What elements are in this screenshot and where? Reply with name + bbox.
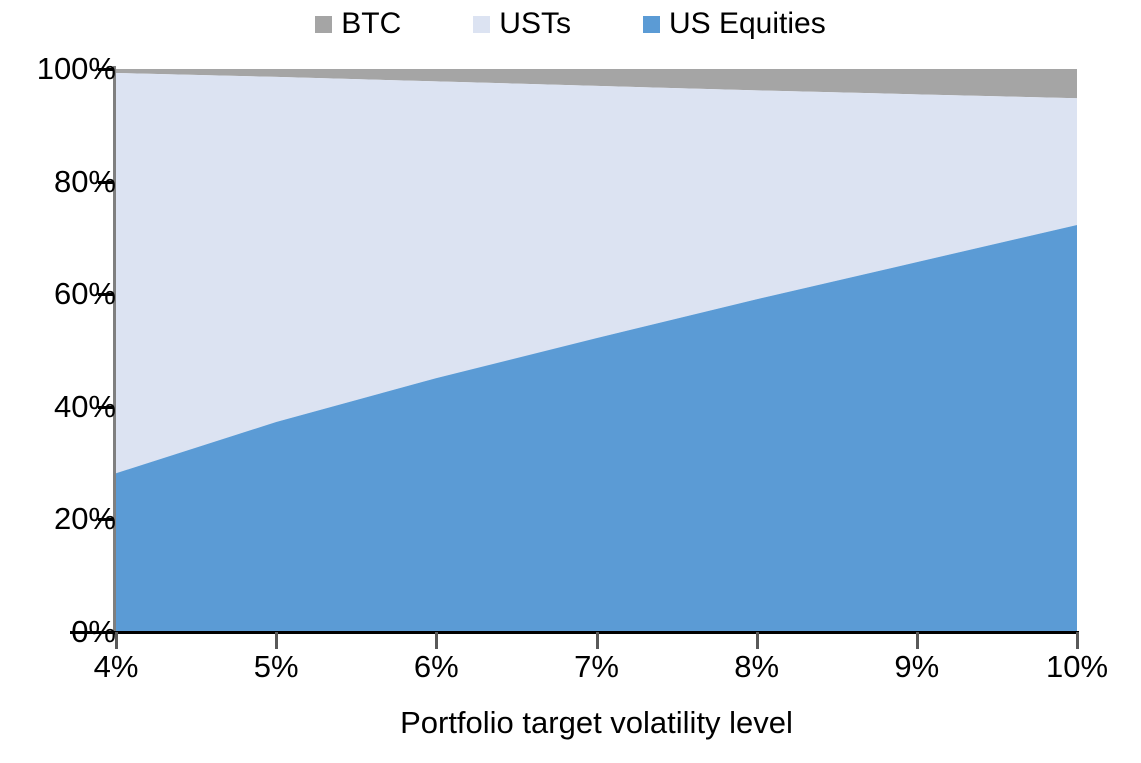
x-axis-title: Portfolio target volatility level xyxy=(116,706,1077,740)
x-tick-label: 6% xyxy=(356,650,516,684)
x-tick-label: 4% xyxy=(36,650,196,684)
x-tick-mark xyxy=(275,632,278,649)
x-tick-label: 5% xyxy=(196,650,356,684)
x-tick-mark xyxy=(916,632,919,649)
x-tick-mark xyxy=(1076,632,1079,649)
x-tick-mark xyxy=(115,632,118,649)
x-tick-label: 8% xyxy=(677,650,837,684)
x-axis-ticks: 4%5%6%7%8%9%10% xyxy=(0,0,1141,763)
x-tick-mark xyxy=(756,632,759,649)
x-tick-label: 10% xyxy=(997,650,1141,684)
stacked-area-chart: BTC USTs US Equities 0%20%40%60%80%100% … xyxy=(0,0,1141,763)
x-tick-label: 9% xyxy=(837,650,997,684)
x-tick-mark xyxy=(435,632,438,649)
x-tick-mark xyxy=(596,632,599,649)
x-tick-label: 7% xyxy=(517,650,677,684)
